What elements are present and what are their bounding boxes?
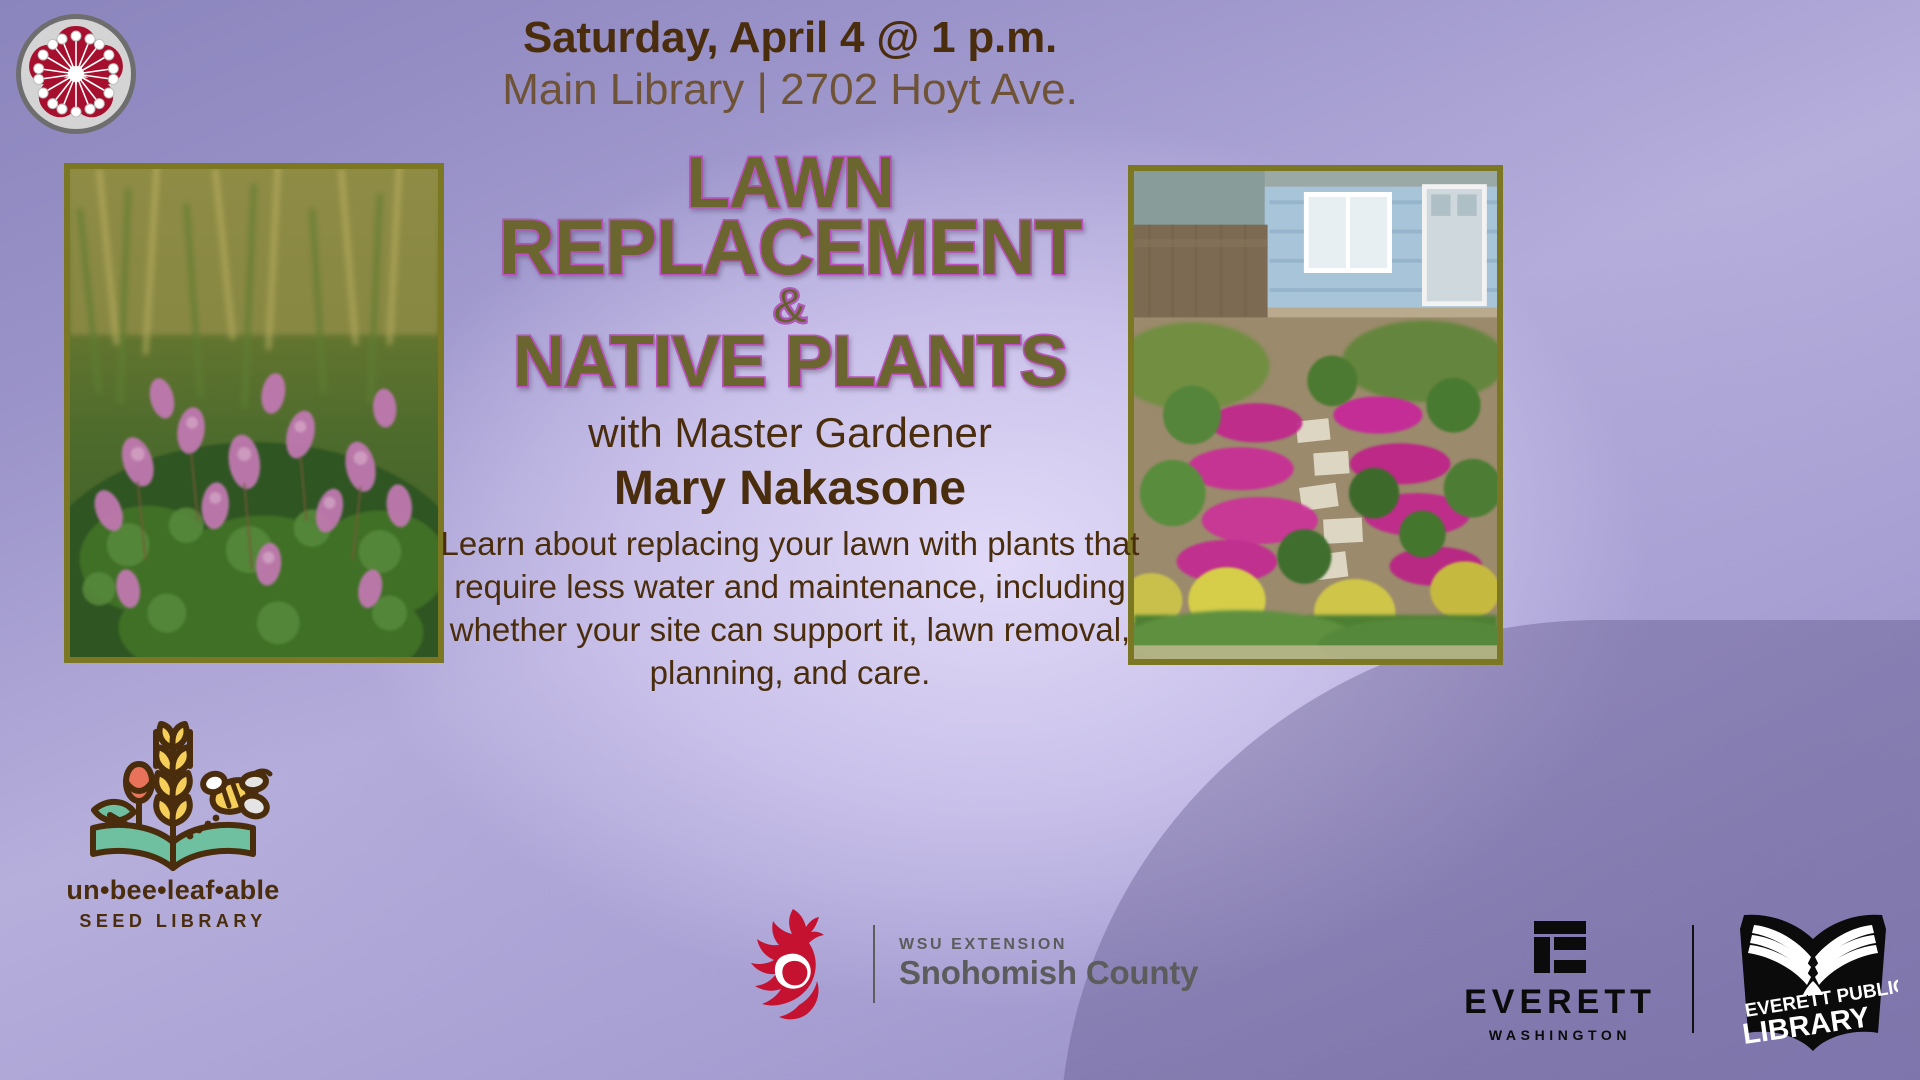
wsu-extension-text: WSU EXTENSION Snohomish County: [899, 936, 1198, 993]
everett-city-state: WASHINGTON: [1462, 1028, 1658, 1042]
presenter-name: Mary Nakasone: [420, 463, 1160, 516]
city-of-everett-logo: EVERETT WASHINGTON: [1462, 917, 1658, 1042]
seed-library-logo-text: un•bee•leaf•able SEED LIBRARY: [40, 876, 306, 931]
wsu-cougar-icon: [735, 905, 843, 1023]
event-venue-address: Main Library | 2702 Hoyt Ave.: [430, 64, 1150, 116]
everett-e-mark-icon: [1530, 917, 1590, 977]
wsu-logo-divider: [873, 925, 875, 1003]
event-description: Learn about replacing your lawn with pla…: [420, 523, 1160, 695]
everett-public-library-logo-icon: EVERETT PUBLIC LIBRARY: [1728, 905, 1898, 1053]
event-date-time: Saturday, April 4 @ 1 p.m.: [430, 14, 1150, 62]
right-photo-native-plant-garden: [1128, 165, 1503, 665]
main-title-block: LAWN REPLACEMENT & NATIVE PLANTS with Ma…: [420, 150, 1160, 695]
left-photo-creeping-thyme: [64, 163, 444, 663]
seed-library-logo-icon: [58, 718, 288, 878]
title-line-replacement: REPLACEMENT: [420, 211, 1160, 284]
wsu-extension-logo: WSU EXTENSION Snohomish County: [735, 905, 1198, 1023]
everett-city-name: EVERETT: [1462, 985, 1658, 1019]
seed-library-name: un•bee•leaf•able: [40, 876, 306, 906]
wsu-extension-county: Snohomish County: [899, 955, 1198, 992]
wsu-master-gardener-medallion-logo: [14, 12, 138, 136]
everett-logo-divider: [1692, 925, 1694, 1033]
title-line-native-plants: NATIVE PLANTS: [420, 329, 1160, 396]
seed-library-subtitle: SEED LIBRARY: [40, 912, 306, 932]
everett-logos-group: EVERETT WASHINGTON EVERETT PUBLIC LIBRA: [1462, 905, 1898, 1053]
presenter-label: with Master Gardener: [420, 410, 1160, 456]
event-header: Saturday, April 4 @ 1 p.m. Main Library …: [430, 14, 1150, 115]
wsu-extension-eyebrow: WSU EXTENSION: [899, 936, 1198, 954]
event-flyer: Saturday, April 4 @ 1 p.m. Main Library …: [0, 0, 1920, 1080]
